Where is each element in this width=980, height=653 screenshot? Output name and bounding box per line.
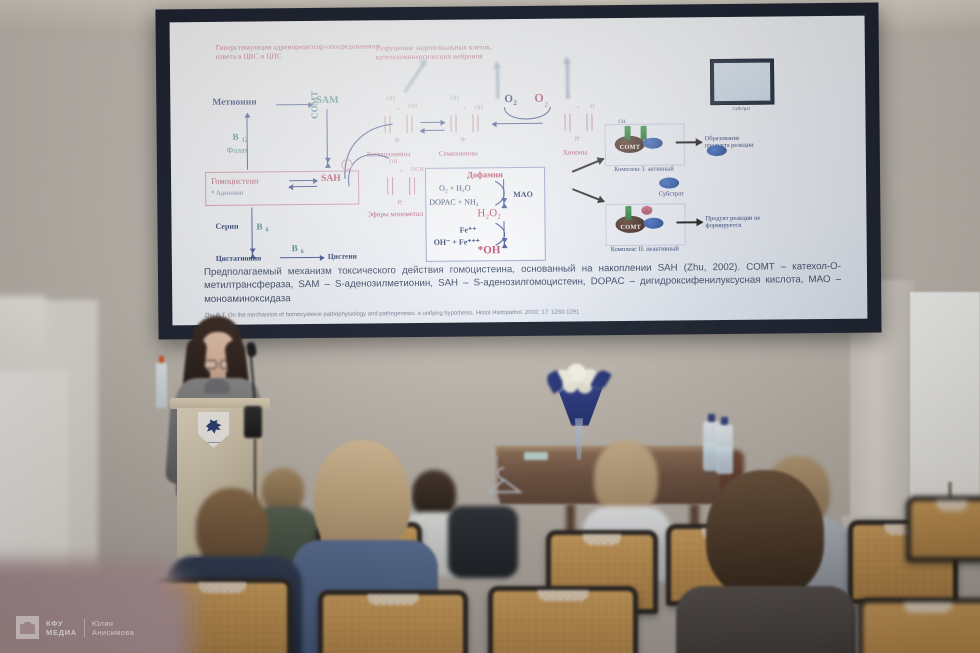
chair-row-back-right (906, 496, 980, 562)
label-methyl-esters: Эфиры монометил (367, 210, 423, 219)
ring1-oh-top: OH (386, 96, 395, 102)
chair-fabric-f3 (494, 592, 632, 653)
ring1-oh-side: OH (408, 104, 417, 110)
label-homocysteine: Гомоцистеин (211, 175, 258, 185)
slide-citation: Zhu B.T. On the mechanism of homocystein… (204, 306, 841, 320)
comt-transfer-curve-icon (338, 118, 399, 189)
arrow-branch-up (572, 158, 604, 173)
chair-fabric-5 (912, 502, 980, 556)
label-methionine: Метионин (212, 98, 256, 108)
ring4-r: R (397, 200, 401, 206)
arrow-hcy-sah-rev (289, 186, 317, 188)
label-fe3: OH⁻ + Fe⁺⁺⁺ (434, 237, 480, 246)
label-complex-inactive: Комплекс II: неактивный (602, 245, 688, 253)
comt-sam-bar-2 (625, 206, 631, 220)
chair-front-4 (858, 598, 980, 653)
label-b6-first-sub: 6 (266, 227, 269, 233)
redox-curve-icon (500, 103, 560, 130)
audience-backpack (448, 506, 518, 578)
label-cystathionine: Цистатионин (216, 253, 262, 262)
audience-head-3 (594, 440, 658, 516)
speaker-glasses-left (204, 360, 217, 369)
arrow-product-not-formed (676, 221, 702, 223)
water-bottle-2 (716, 424, 733, 474)
comt-ch3-1: CH (619, 119, 626, 126)
slide-caption: Предполагаемый механизм токсического дей… (204, 260, 841, 306)
speaker-collar (204, 378, 230, 394)
label-serine: Серин (215, 222, 238, 231)
projection-screen-frame: Гиперстимуляция адренорецептор-опосредов… (155, 3, 881, 340)
arrow-cystathionine-to-cysteine (280, 257, 324, 259)
slide-inset-thumbnail (710, 59, 774, 106)
watermark-logo-icon (16, 616, 39, 639)
audience-front-right-body (676, 586, 856, 653)
slide-inset-image (714, 63, 770, 102)
arrow-hcy-to-cystathionine (251, 208, 253, 258)
label-b6-second: B (292, 243, 298, 253)
arrow-met-to-sam (276, 104, 312, 106)
quinone-ring (564, 106, 592, 138)
label-mao-reagents: O₂ + H₂O (439, 183, 471, 192)
comt-enzyme-1-label: COMT (620, 144, 641, 151)
label-complex-active: Комплекс I: активный (605, 165, 683, 173)
ring2-r: R (461, 138, 465, 144)
label-sam: SAM (316, 95, 338, 106)
bottle-label-2 (716, 446, 733, 459)
arrow-branch-down (572, 188, 604, 202)
label-b6-first: B (256, 221, 262, 231)
comt-sah-bar-1 (641, 126, 647, 140)
label-mao-products: DOPAC + NH₂ (429, 197, 478, 206)
watermark-divider (84, 619, 85, 637)
label-fe2: Fe⁺⁺ (460, 225, 477, 234)
comt-enzyme-2-label: COMT (621, 224, 642, 231)
arrow-semi-to-cat (421, 130, 445, 132)
arrow-cat-to-semi (421, 122, 445, 124)
slide-heading-left: Гиперстимуляция адренорецептор-опосредов… (216, 42, 386, 62)
stimulation-arrow-icon (403, 63, 424, 93)
projection-screen: Гиперстимуляция адренорецептор-опосредов… (170, 16, 868, 326)
label-comt-vertical: COMT (309, 91, 319, 119)
ring2-o-radical: OH (450, 96, 459, 102)
semiquinone-ring (450, 107, 478, 139)
arrow-product-formed (676, 141, 702, 143)
label-b6-second-sub: 6 (301, 249, 304, 255)
podium-bottle (156, 362, 167, 408)
watermark-author: Юлия Анисимова (92, 619, 134, 637)
comt-sam-bar-1 (625, 126, 631, 140)
label-cysteine: Цистеин (328, 252, 357, 261)
label-substrate: Субстрат (651, 190, 691, 197)
arrow-mao-down (503, 179, 505, 207)
label-semiquinones: Семихиноны (439, 149, 478, 157)
table-napkin (524, 452, 548, 460)
ring4-och3: OCH (411, 167, 424, 173)
watermark-author-line1: Юлия (92, 619, 134, 628)
chair-front-3 (488, 586, 638, 653)
microphone-base (244, 406, 262, 438)
audience-person-front-right (686, 470, 846, 653)
destruction-arrow-1-icon (496, 67, 499, 99)
label-folate: Фолат (227, 146, 248, 155)
comt-free-substrate (659, 177, 679, 188)
destruction-arrow-2-icon (566, 63, 569, 99)
chair-front-2 (318, 590, 468, 653)
ring2-oh: OH (474, 105, 483, 111)
ring3-r: R (575, 136, 579, 142)
comt-product-oval (707, 145, 727, 156)
coat-hanger-icon (484, 462, 524, 496)
audience-front-right-head (706, 470, 824, 598)
presentation-slide: Гиперстимуляция адренорецептор-опосредов… (170, 16, 868, 326)
slide-heading-right: Разрушение эндотелиальных клеток, катехо… (376, 43, 526, 63)
zilant-dragon-icon (204, 419, 223, 437)
watermark-brand-line1: КФУ (46, 619, 77, 628)
arrow-fenton-down (503, 221, 505, 247)
label-quinones: Хиноны (563, 148, 588, 156)
label-dopamine: Дофамин (467, 169, 503, 179)
ring3-o-side: O (590, 104, 594, 110)
label-product-not-formed: Продукт реакции не формируется (705, 215, 767, 230)
watermark-brand-line2: МЕДИА (46, 628, 77, 637)
label-sah: SAH (321, 174, 341, 184)
watermark-author-line2: Анисимова (92, 628, 134, 637)
label-adenosine: * Аденозин (211, 190, 243, 197)
chair-fabric-f2 (324, 596, 462, 653)
label-b12-sub: 12 (242, 138, 248, 144)
conference-photo: Гиперстимуляция адренорецептор-опосредов… (0, 0, 980, 653)
label-b12: B (233, 132, 239, 142)
arrow-hcy-sah-fwd (289, 180, 317, 182)
label-hydroxyl-radical: *OH (478, 244, 501, 256)
watermark: КФУ МЕДИА Юлия Анисимова (16, 616, 134, 639)
comt-sah-blocker-2 (641, 206, 652, 215)
slide-inset-caption: Субстрат (710, 105, 772, 113)
ring3-o-top: O (566, 94, 570, 100)
chair-fabric-f4 (864, 604, 980, 653)
label-mao-enzyme: MAO (513, 190, 533, 199)
arrow-sam-to-sah (326, 109, 328, 167)
label-hydrogen-peroxide: H₂O₂ (477, 207, 501, 219)
watermark-brand: КФУ МЕДИА (46, 619, 77, 637)
